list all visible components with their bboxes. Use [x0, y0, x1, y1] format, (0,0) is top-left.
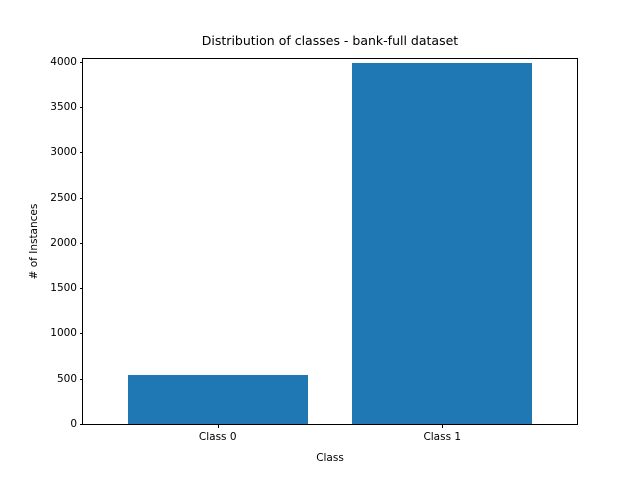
bar-0	[128, 375, 308, 424]
x-tick-1	[442, 424, 443, 428]
x-tick-0	[218, 424, 219, 428]
y-tick-label-4: 2000	[50, 237, 77, 249]
y-tick-label-5: 2500	[50, 192, 77, 204]
y-tick-label-7: 3500	[50, 101, 77, 113]
x-tick-label-1: Class 1	[423, 431, 461, 443]
y-tick-8	[80, 62, 84, 63]
plot-axes: 05001000150020002500300035004000Class 0C…	[82, 58, 578, 425]
chart-title: Distribution of classes - bank-full data…	[82, 33, 578, 48]
y-tick-4	[80, 243, 84, 244]
plot-area	[83, 59, 577, 424]
y-tick-1	[80, 379, 84, 380]
y-tick-2	[80, 333, 84, 334]
x-tick-label-0: Class 0	[199, 431, 237, 443]
y-tick-label-0: 0	[70, 418, 77, 430]
y-axis-label: # of Instances	[28, 58, 44, 425]
y-tick-label-8: 4000	[50, 56, 77, 68]
y-tick-label-6: 3000	[50, 146, 77, 158]
y-tick-label-1: 500	[57, 373, 77, 385]
y-tick-6	[80, 152, 84, 153]
y-tick-label-2: 1000	[50, 327, 77, 339]
y-tick-3	[80, 288, 84, 289]
y-tick-7	[80, 107, 84, 108]
bar-1	[352, 63, 532, 424]
x-axis-label: Class	[82, 452, 578, 464]
y-tick-label-3: 1500	[50, 282, 77, 294]
y-tick-5	[80, 198, 84, 199]
chart-figure: Distribution of classes - bank-full data…	[0, 0, 640, 480]
y-tick-0	[80, 424, 84, 425]
